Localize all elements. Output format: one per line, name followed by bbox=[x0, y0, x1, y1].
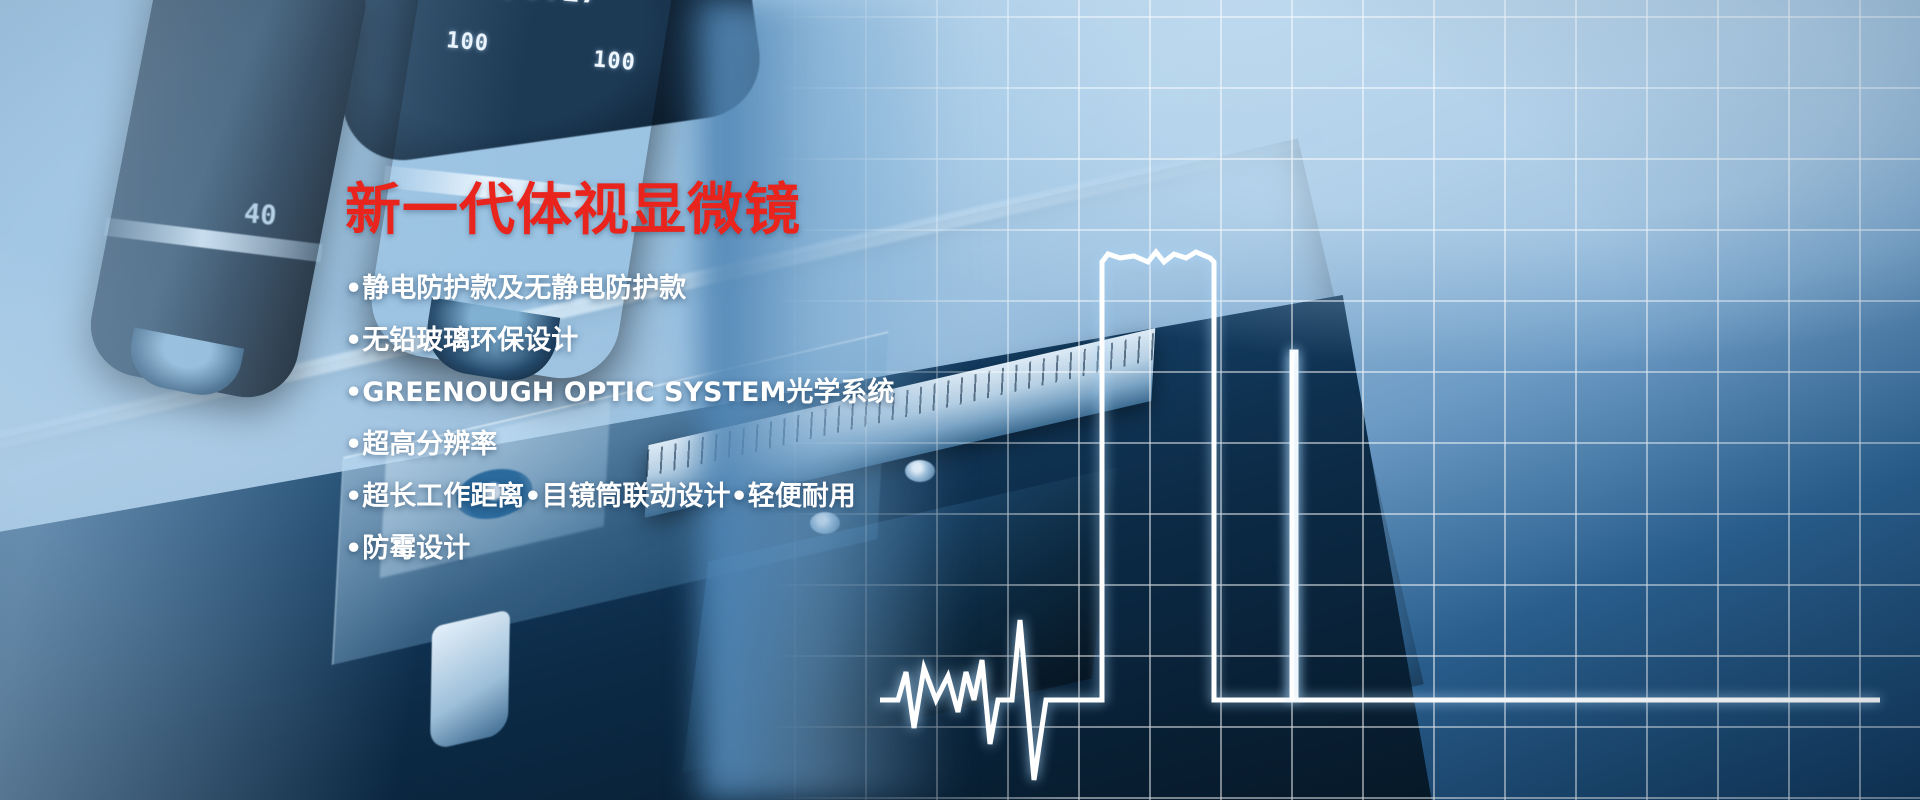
vignette bbox=[0, 0, 1920, 800]
hero-banner: 40 100/1.25 160/0.17 100 100 新一代体视显微镜 •静… bbox=[0, 0, 1920, 800]
